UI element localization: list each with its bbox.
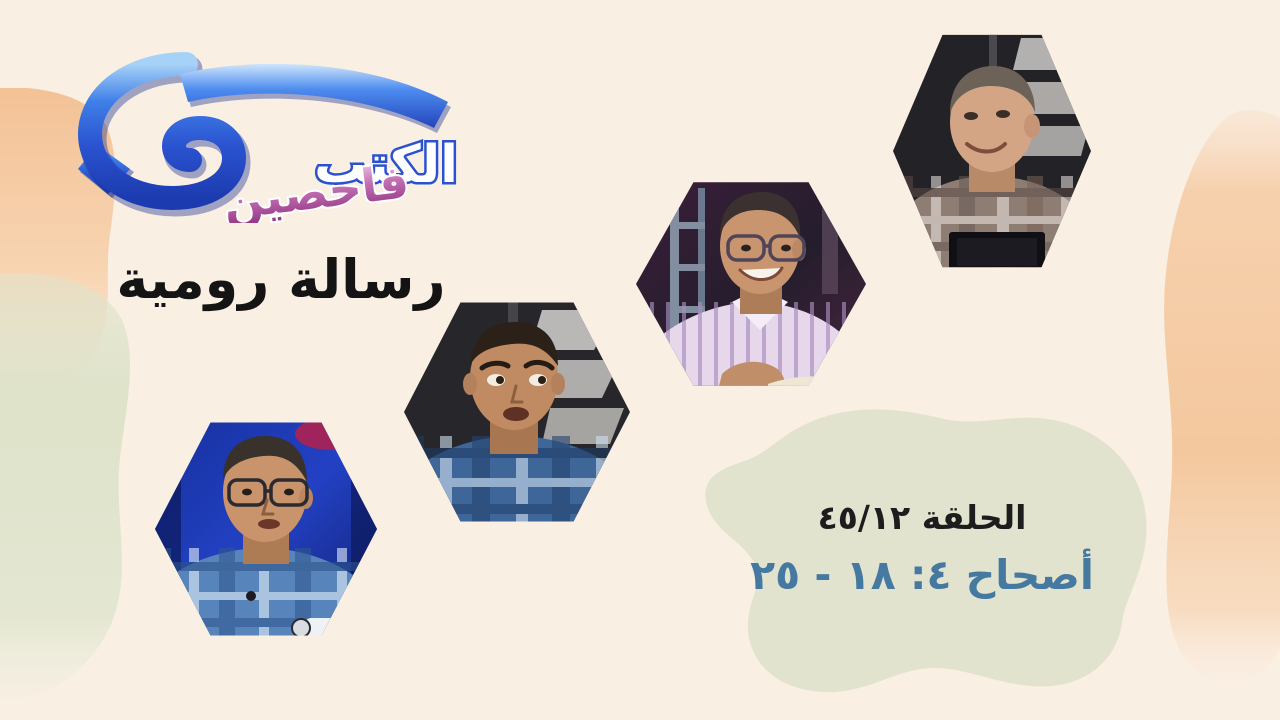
photo-guest-plaid-blue [404,298,630,526]
episode-number: الحلقة ٤٥/١٢ [818,498,1027,537]
photo-guest-glasses [155,418,377,640]
title-card: الكتب فاحصين رسالة رومية [0,0,1280,720]
scripture-reference: أصحاح ٤: ١٨ - ٢٥ [750,551,1094,599]
guest-photo-glasses [155,418,377,640]
host-photo-striped-shirt [636,178,866,390]
episode-text-group: الحلقة ٤٥/١٢ أصحاح ٤: ١٨ - ٢٥ [672,406,1172,696]
guest-photo-plaid-blue [404,298,630,526]
program-logo: الكتب فاحصين [68,48,488,223]
photo-host-striped [636,178,866,390]
page-title: رسالة رومية [96,252,466,309]
guest-photo-plaid-brown [893,30,1091,272]
episode-info-blob: الحلقة ٤٥/١٢ أصحاح ٤: ١٨ - ٢٥ [672,406,1172,696]
photo-guest-plaid-brown [893,30,1091,272]
sage-brush-stroke [0,262,140,712]
